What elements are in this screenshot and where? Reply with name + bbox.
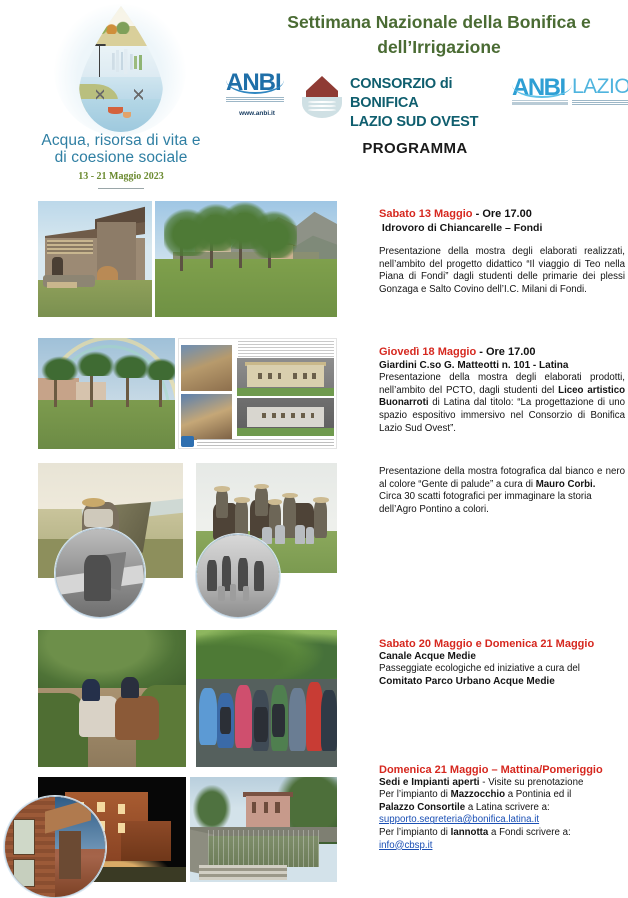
event-5-line3: Per l’impianto di Iannotta a Fondi scriv… [379,827,625,840]
event-2-body: Presentazione della mostra degli elabora… [379,372,625,435]
campaign-drop-logo: Acqua, risorsa di vita e di coesione soc… [38,4,204,190]
event-5-line1: Per l’impianto di Mazzocchio a Pontinia … [379,789,625,802]
event-2-venue: Giardini C.so G. Matteotti n. 101 - Lati… [379,360,625,373]
wave-icon [308,109,336,111]
event-5-text: Domenica 21 Maggio – Mattina/Pomeriggio … [379,764,625,852]
event-4-text: Sabato 20 Maggio e Domenica 21 Maggio Ca… [379,638,625,688]
event-4-date: Sabato 20 Maggio e Domenica 21 Maggio [379,638,625,651]
event-5-date: Domenica 21 Maggio – Mattina/Pomeriggio [379,764,625,777]
programma-heading: PROGRAMMA [250,140,580,157]
event-2-time: Ore 17.00 [486,346,536,358]
campaign-slogan-line1: Acqua, risorsa di vita e [38,132,204,149]
event-5-line3-c: a Fondi scrivere a: [488,827,570,838]
drop-city-skyline [111,49,150,77]
poster-header: Acqua, risorsa di vita e di coesione soc… [0,0,628,192]
photo-garden-rainbow [38,338,175,449]
event-1-venue: Idrovoro di Chiancarelle – Fondi [379,222,625,235]
event-5-venue-rest: - Visite su prenotazione [480,777,584,788]
event-4-body-part1: Passeggiate ecologiche ed iniziative a c… [379,663,625,676]
wave-icon [308,105,336,107]
event-1-headline: Sabato 13 Maggio - Ore 17.00 [379,208,625,222]
event-3-body-part2: Circa 30 scatti fotografici per immagina… [379,491,625,516]
drop-boat-icon [123,112,131,118]
drop-pump-icon [91,44,113,79]
event-5-email-1[interactable]: supporto.segreteria@bonifica.latina.it [379,814,625,827]
event-5-line2-a: Palazzo Consortile [379,802,465,813]
photo-impianto-water [190,777,337,882]
water-drop-illustration [38,4,204,136]
event-1-body: Presentazione della mostra degli elabora… [379,246,625,296]
photo-horseback-walk [38,630,186,767]
event-4-body-bold1: Comitato Parco Urbano Acque Medie [379,676,625,689]
event-5-email-2[interactable]: info@cbsp.it [379,840,625,853]
page-title-line2: dell’Irrigazione [252,35,626,60]
event-5-venue: Sedi e Impianti aperti - Visite su preno… [379,777,625,790]
page-title-line1: Settimana Nazionale della Bonifica e [252,10,626,35]
consorzio-wordmark: CONSORZIO di BONIFICA LAZIO SUD OVEST [350,75,522,132]
consorzio-line2: LAZIO SUD OVEST [350,113,522,132]
poster-page: Acqua, risorsa di vita e di coesione soc… [0,0,628,891]
drop-pylon-icon [96,82,104,107]
event-2-headline: Giovedì 18 Maggio - Ore 17.00 [379,346,625,360]
photo-group-walk [196,630,337,767]
anbi-url: www.anbi.it [226,110,288,117]
event-5-line1-a: Per l’impianto di [379,789,451,800]
anbi-lazio-word: LAZIO [572,74,628,100]
event-1-text: Sabato 13 Maggio - Ore 17.00 Idrovoro di… [379,208,625,297]
event-5-line1-b: Mazzocchio [451,789,505,800]
event-5-line2-b: a Latina scrivere a: [465,802,550,813]
anbi-lazio-bar-icon [572,100,628,105]
campaign-slogan-line2: di coesione sociale [38,149,204,166]
event-5-venue-bold: Sedi e Impianti aperti [379,777,480,788]
anbi-lazio-logo: ANBI LAZIO [512,74,628,118]
anbi-logo: ANBI www.anbi.it [226,70,288,122]
event-5-line1-c: a Pontinia ed il [505,789,571,800]
photo-idrovoro-field [155,201,337,317]
anbi-lazio-subbar-icon [512,100,568,105]
photo-fisherman-bw [55,528,145,618]
event-1-time: Ore 17.00 [482,208,532,220]
event-3-body-bold1: Mauro Corbi. [536,479,596,490]
consorzio-bonifica-logo: CONSORZIO di BONIFICA LAZIO SUD OVEST [302,74,522,118]
page-title: Settimana Nazionale della Bonifica e del… [252,10,626,60]
campaign-slogan: Acqua, risorsa di vita e di coesione soc… [38,132,204,166]
drop-pylon-icon [134,82,142,107]
photo-idrovoro-building [38,201,152,317]
campaign-dates: 13 - 21 Maggio 2023 [38,171,204,182]
event-1-separator: - [473,208,483,220]
event-2-separator: - [476,346,486,358]
event-1-date: Sabato 13 Maggio [379,208,473,220]
sponsor-logos: ANBI www.anbi.it CONSORZIO di BONIFIC [222,68,628,122]
event-5-line2: Palazzo Consortile a Latina scrivere a: [379,802,625,815]
event-3-body: Presentazione della mostra fotografica d… [379,466,625,491]
photo-building-detail [4,796,106,898]
event-3-text: Presentazione della mostra fotografica d… [379,466,625,516]
consorzio-line1: CONSORZIO di BONIFICA [350,75,522,113]
divider [98,188,144,189]
anbi-bar-icon [226,97,284,102]
event-2-text: Giovedì 18 Maggio - Ore 17.00 Giardini C… [379,346,625,435]
drop-bottom-shape [302,97,342,118]
drop-boat-icon [108,107,123,115]
event-2-date: Giovedì 18 Maggio [379,346,476,358]
event-5-line3-b: Iannotta [451,827,489,838]
wave-icon [308,101,336,103]
photo-herders-bw [196,534,280,618]
event-4-venue: Canale Acque Medie [379,651,625,664]
anbi-mark-icon: ANBI [226,70,284,104]
photo-project-board [178,338,337,449]
event-5-line3-a: Per l’impianto di [379,827,451,838]
consorzio-drop-icon [302,76,342,118]
